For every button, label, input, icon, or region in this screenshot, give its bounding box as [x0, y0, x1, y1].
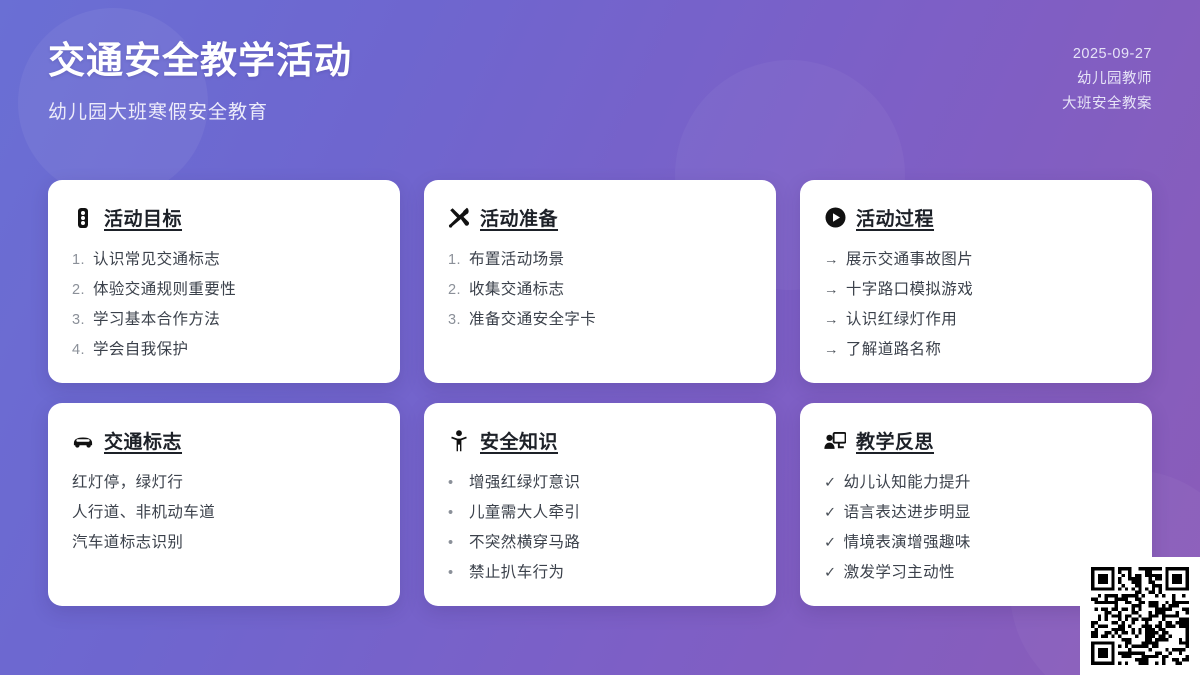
- card-list: 红灯停，绿灯行人行道、非机动车道汽车道标志识别: [72, 468, 376, 558]
- qr-code: [1091, 567, 1189, 665]
- list-marker: •: [448, 498, 462, 528]
- list-item: 2.体验交通规则重要性: [72, 275, 376, 305]
- page-title: 交通安全教学活动: [48, 40, 1152, 83]
- card-header: 教学反思: [824, 427, 1128, 454]
- list-item: 2.收集交通标志: [448, 275, 752, 305]
- list-item-text: 不突然横穿马路: [469, 528, 580, 558]
- card-title: 教学反思: [856, 427, 934, 454]
- list-item-text: 激发学习主动性: [844, 558, 955, 588]
- list-item: •不突然横穿马路: [448, 528, 752, 558]
- list-item-text: 幼儿认知能力提升: [844, 468, 971, 498]
- card-title: 活动过程: [856, 204, 934, 231]
- card-list: 1.认识常见交通标志2.体验交通规则重要性3.学习基本合作方法4.学会自我保护: [72, 245, 376, 365]
- list-marker: 1.: [72, 245, 86, 275]
- list-item: 4.学会自我保护: [72, 335, 376, 365]
- card-活动准备: 活动准备1.布置活动场景2.收集交通标志3.准备交通安全字卡: [424, 180, 776, 383]
- tools-icon: [448, 207, 470, 229]
- card-list: 1.布置活动场景2.收集交通标志3.准备交通安全字卡: [448, 245, 752, 335]
- page-subtitle: 幼儿园大班寒假安全教育: [48, 97, 1152, 124]
- meta-author: 幼儿园教师: [1062, 67, 1152, 92]
- list-marker: ✓: [824, 498, 837, 528]
- list-item: 人行道、非机动车道: [72, 498, 376, 528]
- list-item: •儿童需大人牵引: [448, 498, 752, 528]
- list-marker: 3.: [72, 305, 86, 335]
- list-marker: •: [448, 528, 462, 558]
- list-marker: 3.: [448, 305, 462, 335]
- card-title: 活动准备: [480, 204, 558, 231]
- list-marker: •: [448, 468, 462, 498]
- list-item: 3.准备交通安全字卡: [448, 305, 752, 335]
- card-header: 活动目标: [72, 204, 376, 231]
- list-item: 1.布置活动场景: [448, 245, 752, 275]
- card-安全知识: 安全知识•增强红绿灯意识•儿童需大人牵引•不突然横穿马路•禁止扒车行为: [424, 403, 776, 606]
- list-item-text: 人行道、非机动车道: [72, 498, 215, 528]
- list-item-text: 增强红绿灯意识: [469, 468, 580, 498]
- list-marker: →: [824, 305, 839, 335]
- cards-grid: 活动目标1.认识常见交通标志2.体验交通规则重要性3.学习基本合作方法4.学会自…: [48, 180, 1152, 606]
- list-marker: →: [824, 245, 839, 275]
- list-item-text: 布置活动场景: [469, 245, 564, 275]
- list-item-text: 十字路口模拟游戏: [846, 275, 973, 305]
- list-marker: •: [448, 558, 462, 588]
- list-item-text: 准备交通安全字卡: [469, 305, 596, 335]
- play-circle-icon: [824, 207, 846, 229]
- list-item-text: 语言表达进步明显: [844, 498, 971, 528]
- list-item: •增强红绿灯意识: [448, 468, 752, 498]
- list-item: →展示交通事故图片: [824, 245, 1128, 275]
- list-item-text: 认识常见交通标志: [93, 245, 220, 275]
- card-活动目标: 活动目标1.认识常见交通标志2.体验交通规则重要性3.学习基本合作方法4.学会自…: [48, 180, 400, 383]
- list-item: →了解道路名称: [824, 335, 1128, 365]
- list-item-text: 情境表演增强趣味: [844, 528, 971, 558]
- list-item-text: 展示交通事故图片: [846, 245, 973, 275]
- list-item: 红灯停，绿灯行: [72, 468, 376, 498]
- list-marker: ✓: [824, 558, 837, 588]
- child-icon: [448, 430, 470, 452]
- card-header: 活动准备: [448, 204, 752, 231]
- meta-date: 2025-09-27: [1062, 42, 1152, 67]
- presentation-icon: [824, 430, 846, 452]
- meta-category: 大班安全教案: [1062, 92, 1152, 117]
- list-item: 3.学习基本合作方法: [72, 305, 376, 335]
- card-交通标志: 交通标志红灯停，绿灯行人行道、非机动车道汽车道标志识别: [48, 403, 400, 606]
- list-item: ✓情境表演增强趣味: [824, 528, 1128, 558]
- card-list: →展示交通事故图片→十字路口模拟游戏→认识红绿灯作用→了解道路名称: [824, 245, 1128, 365]
- list-marker: 2.: [72, 275, 86, 305]
- list-item: 1.认识常见交通标志: [72, 245, 376, 275]
- list-marker: 4.: [72, 335, 86, 365]
- card-活动过程: 活动过程→展示交通事故图片→十字路口模拟游戏→认识红绿灯作用→了解道路名称: [800, 180, 1152, 383]
- traffic-light-icon: [72, 207, 94, 229]
- list-marker: →: [824, 275, 839, 305]
- list-item-text: 汽车道标志识别: [72, 528, 183, 558]
- list-marker: ✓: [824, 468, 837, 498]
- list-item-text: 儿童需大人牵引: [469, 498, 580, 528]
- list-marker: 2.: [448, 275, 462, 305]
- list-marker: →: [824, 335, 839, 365]
- card-title: 安全知识: [480, 427, 558, 454]
- card-title: 活动目标: [104, 204, 182, 231]
- card-title: 交通标志: [104, 427, 182, 454]
- car-icon: [72, 430, 94, 452]
- card-list: •增强红绿灯意识•儿童需大人牵引•不突然横穿马路•禁止扒车行为: [448, 468, 752, 588]
- list-item: →十字路口模拟游戏: [824, 275, 1128, 305]
- list-item: ✓幼儿认知能力提升: [824, 468, 1128, 498]
- list-item-text: 学习基本合作方法: [93, 305, 220, 335]
- list-item-text: 认识红绿灯作用: [846, 305, 957, 335]
- card-header: 安全知识: [448, 427, 752, 454]
- list-item-text: 体验交通规则重要性: [93, 275, 236, 305]
- qr-code-container: [1080, 557, 1200, 675]
- header-meta: 2025-09-27 幼儿园教师 大班安全教案: [1062, 42, 1152, 117]
- list-item: •禁止扒车行为: [448, 558, 752, 588]
- list-marker: ✓: [824, 528, 837, 558]
- list-item: →认识红绿灯作用: [824, 305, 1128, 335]
- card-header: 交通标志: [72, 427, 376, 454]
- page-header: 交通安全教学活动 幼儿园大班寒假安全教育 2025-09-27 幼儿园教师 大班…: [0, 0, 1200, 170]
- list-item-text: 收集交通标志: [469, 275, 564, 305]
- list-item-text: 禁止扒车行为: [469, 558, 564, 588]
- list-item-text: 了解道路名称: [846, 335, 941, 365]
- list-item: ✓语言表达进步明显: [824, 498, 1128, 528]
- list-item-text: 学会自我保护: [93, 335, 188, 365]
- list-item: 汽车道标志识别: [72, 528, 376, 558]
- list-item-text: 红灯停，绿灯行: [72, 468, 183, 498]
- card-header: 活动过程: [824, 204, 1128, 231]
- list-marker: 1.: [448, 245, 462, 275]
